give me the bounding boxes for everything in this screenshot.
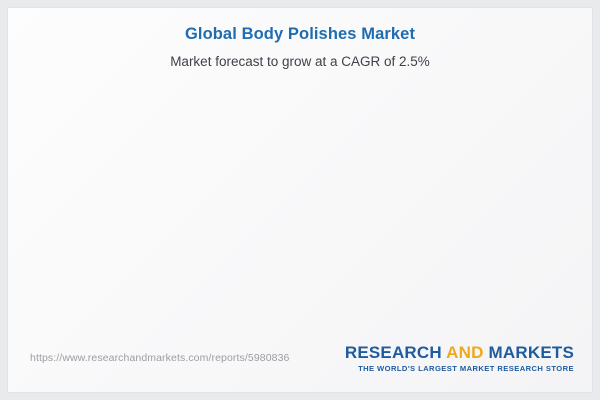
logo-tagline: THE WORLD'S LARGEST MARKET RESEARCH STOR… bbox=[345, 364, 574, 373]
logo-word-and: AND bbox=[442, 343, 489, 362]
logo-wordmark: RESEARCH AND MARKETS bbox=[345, 343, 574, 363]
plot-area: USD 2.5 Billion 2023 USD 3 Billion bbox=[8, 8, 592, 338]
chart-card: Global Body Polishes Market Market forec… bbox=[8, 8, 592, 392]
logo-word-markets: MARKETS bbox=[489, 343, 574, 362]
logo-word-research: RESEARCH bbox=[345, 343, 442, 362]
report-url[interactable]: https://www.researchandmarkets.com/repor… bbox=[30, 352, 289, 364]
research-and-markets-logo[interactable]: RESEARCH AND MARKETS THE WORLD'S LARGEST… bbox=[345, 343, 574, 373]
footer: https://www.researchandmarkets.com/repor… bbox=[8, 338, 592, 392]
